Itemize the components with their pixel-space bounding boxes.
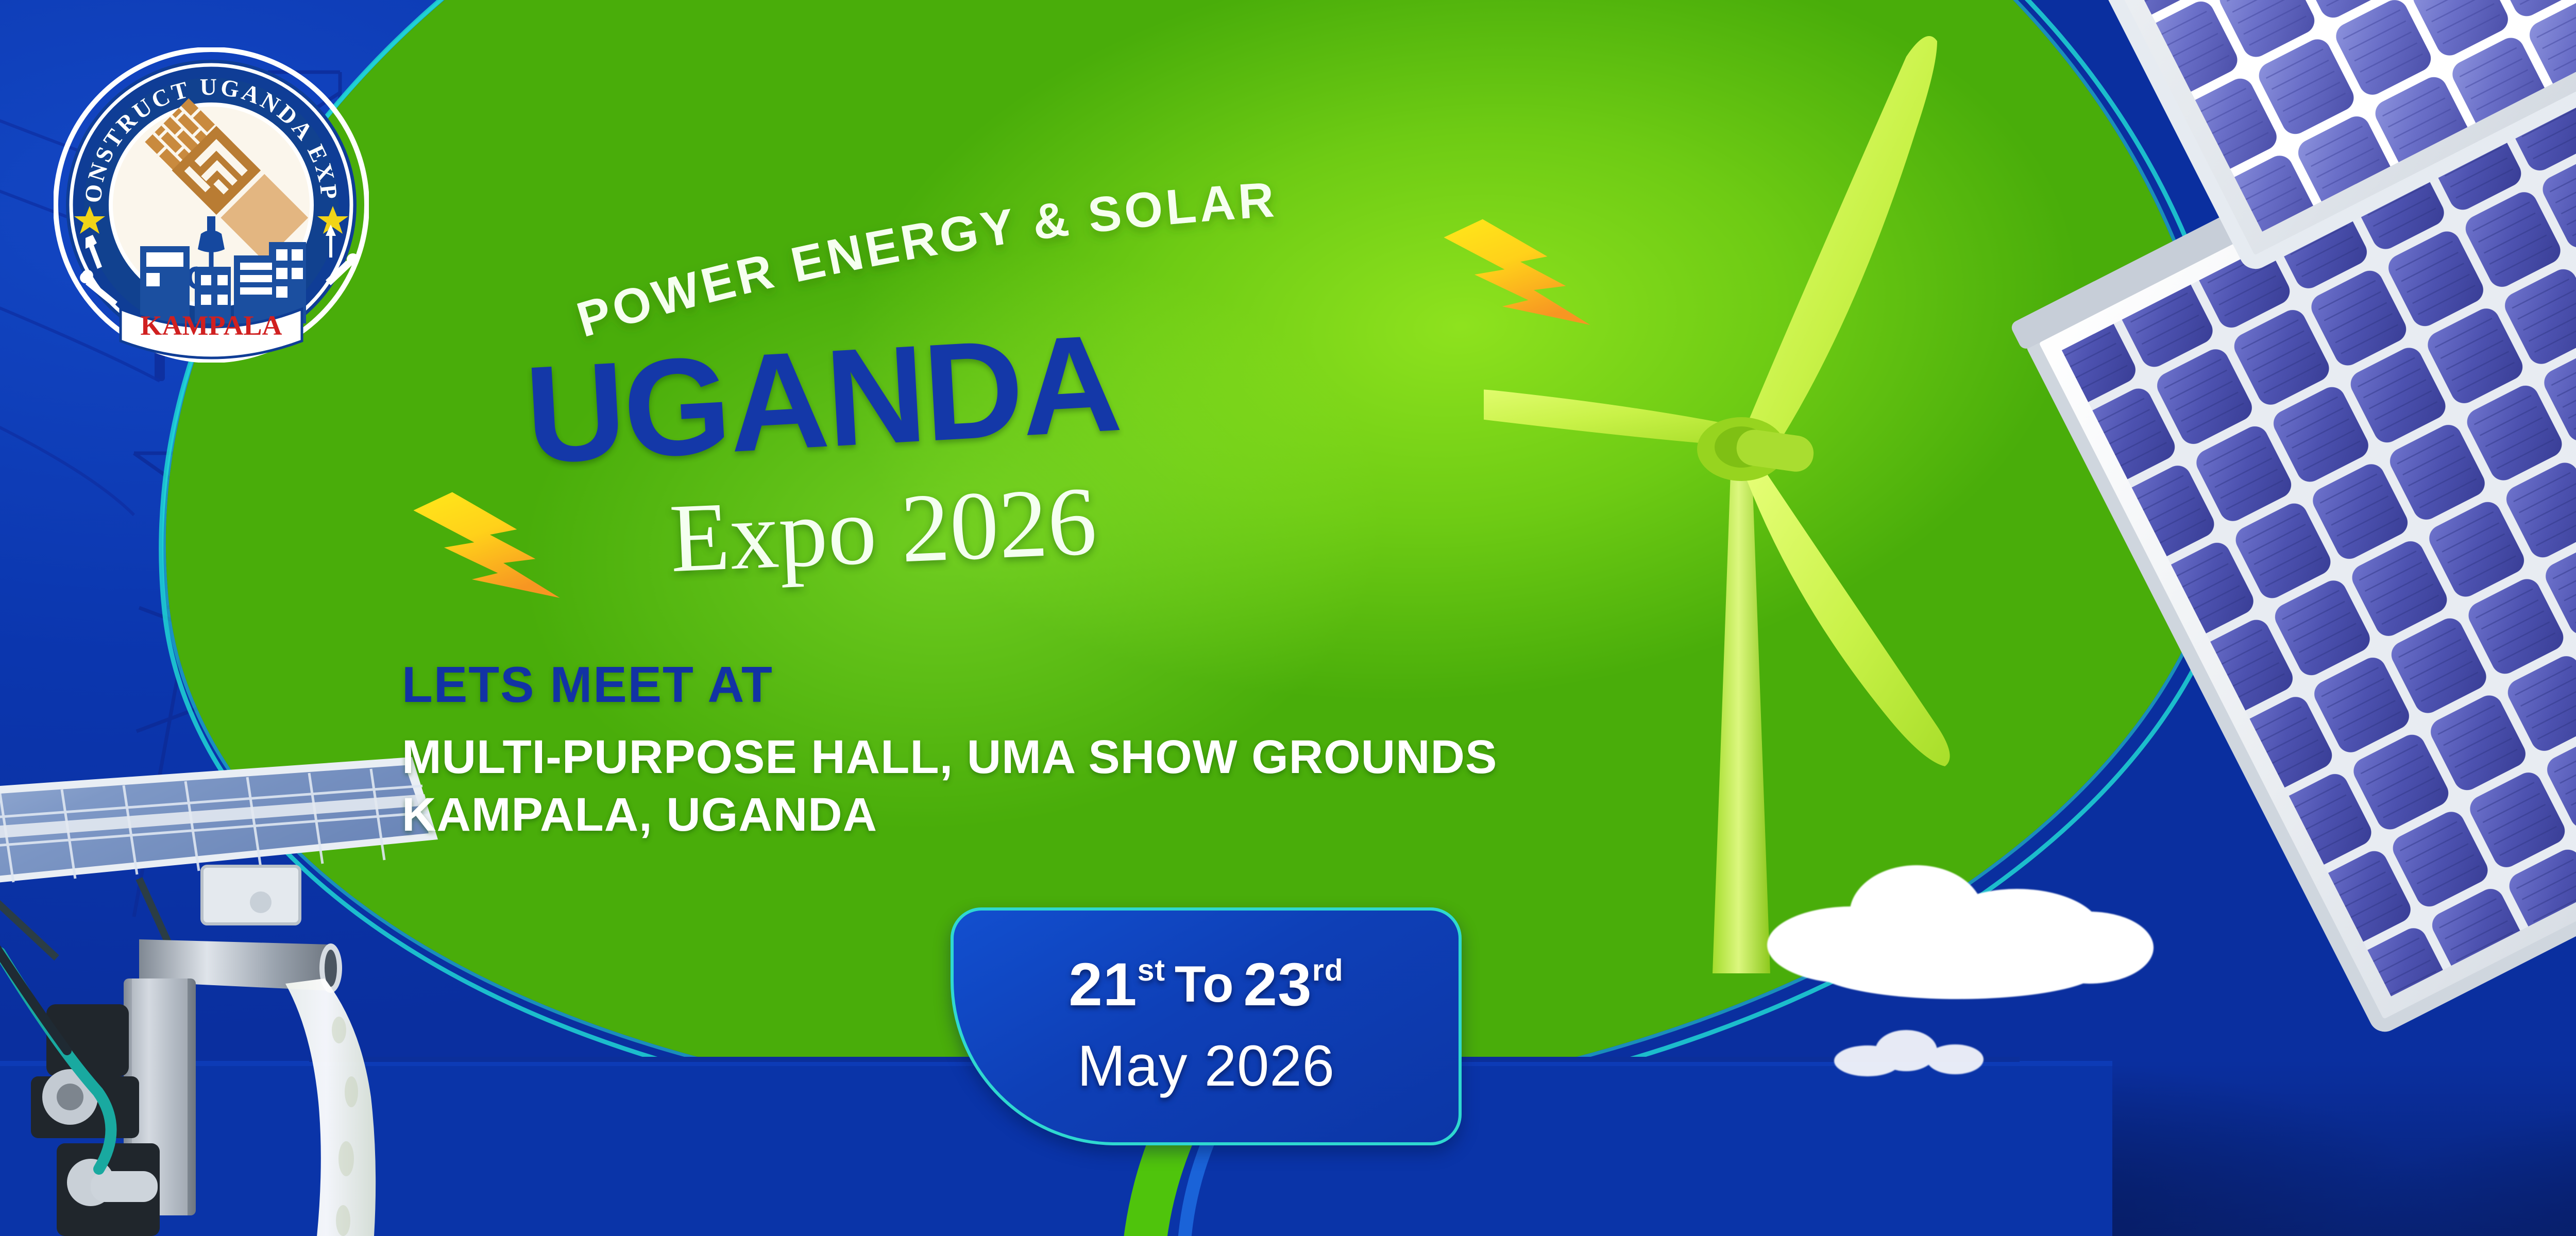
lightning-bolt-icon	[404, 476, 569, 621]
date-day-end-suffix: rd	[1312, 955, 1344, 986]
subtitle: Expo 2026	[668, 465, 1099, 595]
meet-at-label: LETS MEET AT	[402, 659, 1793, 710]
cloud-icon	[1752, 845, 2164, 1015]
cloud-icon	[1834, 1025, 1989, 1081]
page-title: UGANDA	[521, 303, 1123, 495]
venue-line-1: MULTI-PURPOSE HALL, UMA SHOW GROUNDS	[402, 728, 1793, 786]
date-day-end: 23	[1243, 954, 1312, 1015]
venue-block: LETS MEET AT MULTI-PURPOSE HALL, UMA SHO…	[402, 659, 1793, 844]
date-month-year: May 2026	[1077, 1033, 1335, 1099]
date-badge: 21st To 23rd May 2026	[951, 907, 1462, 1145]
date-to-label: To	[1175, 959, 1234, 1010]
date-range: 21st To 23rd	[1069, 954, 1343, 1015]
construct-uganda-expo-logo-icon: CONSTRUCT UGANDA EXPO	[54, 47, 369, 363]
event-banner: CONSTRUCT UGANDA EXPO	[0, 0, 2576, 1236]
date-day-start: 21	[1069, 954, 1137, 1015]
logo-banner-text: KAMPALA	[141, 310, 282, 341]
venue-line-2: KAMPALA, UGANDA	[402, 786, 1793, 844]
lightning-bolt-icon	[1435, 203, 1599, 348]
date-day-start-suffix: st	[1138, 955, 1165, 986]
